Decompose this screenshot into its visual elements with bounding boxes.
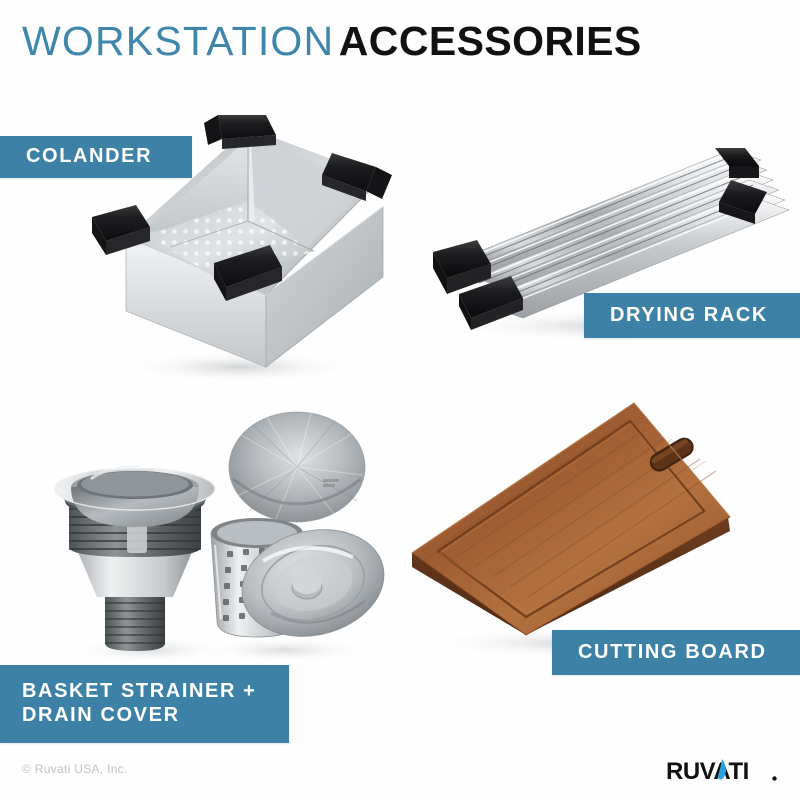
- basket-shadow: [200, 637, 370, 663]
- label-badge-cutting-board[interactable]: CUTTING BOARD: [552, 630, 800, 675]
- drain-body: [55, 467, 215, 651]
- ruvati-logo: RUVATI: [666, 756, 782, 786]
- cutting-board-slab: [412, 403, 730, 635]
- badge-label-cutting-board: CUTTING BOARD: [578, 641, 767, 665]
- badge-label-basket-strainer-line2: DRAIN COVER: [22, 704, 180, 728]
- infographic-page: WORKSTATION ACCESSORIES: [0, 0, 800, 800]
- badge-label-colander: COLANDER: [26, 145, 152, 169]
- copyright-text: © Ruvati USA, Inc.: [22, 762, 128, 776]
- colander-grip-back-left: [204, 115, 276, 149]
- title-word-accessories: ACCESSORIES: [339, 18, 642, 64]
- badge-label-basket-strainer-line1: BASKET STRAINER +: [22, 680, 256, 704]
- label-badge-colander[interactable]: COLANDER: [0, 136, 192, 178]
- page-title: WORKSTATION ACCESSORIES: [22, 18, 642, 65]
- drain-cover-disc: [229, 412, 365, 522]
- product-image-basket-strainer: [35, 405, 385, 670]
- title-word-workstation: WORKSTATION: [22, 18, 334, 64]
- logo-wordmark: RUVATI: [666, 758, 749, 785]
- label-badge-drying-rack[interactable]: DRYING RACK: [584, 293, 800, 338]
- logo-registered-dot: [772, 776, 776, 780]
- drying-rack-end-cap-left: [433, 240, 491, 294]
- label-badge-basket-strainer[interactable]: BASKET STRAINER + DRAIN COVER: [0, 665, 289, 743]
- badge-label-drying-rack: DRYING RACK: [610, 304, 768, 328]
- product-image-cutting-board: [398, 395, 738, 665]
